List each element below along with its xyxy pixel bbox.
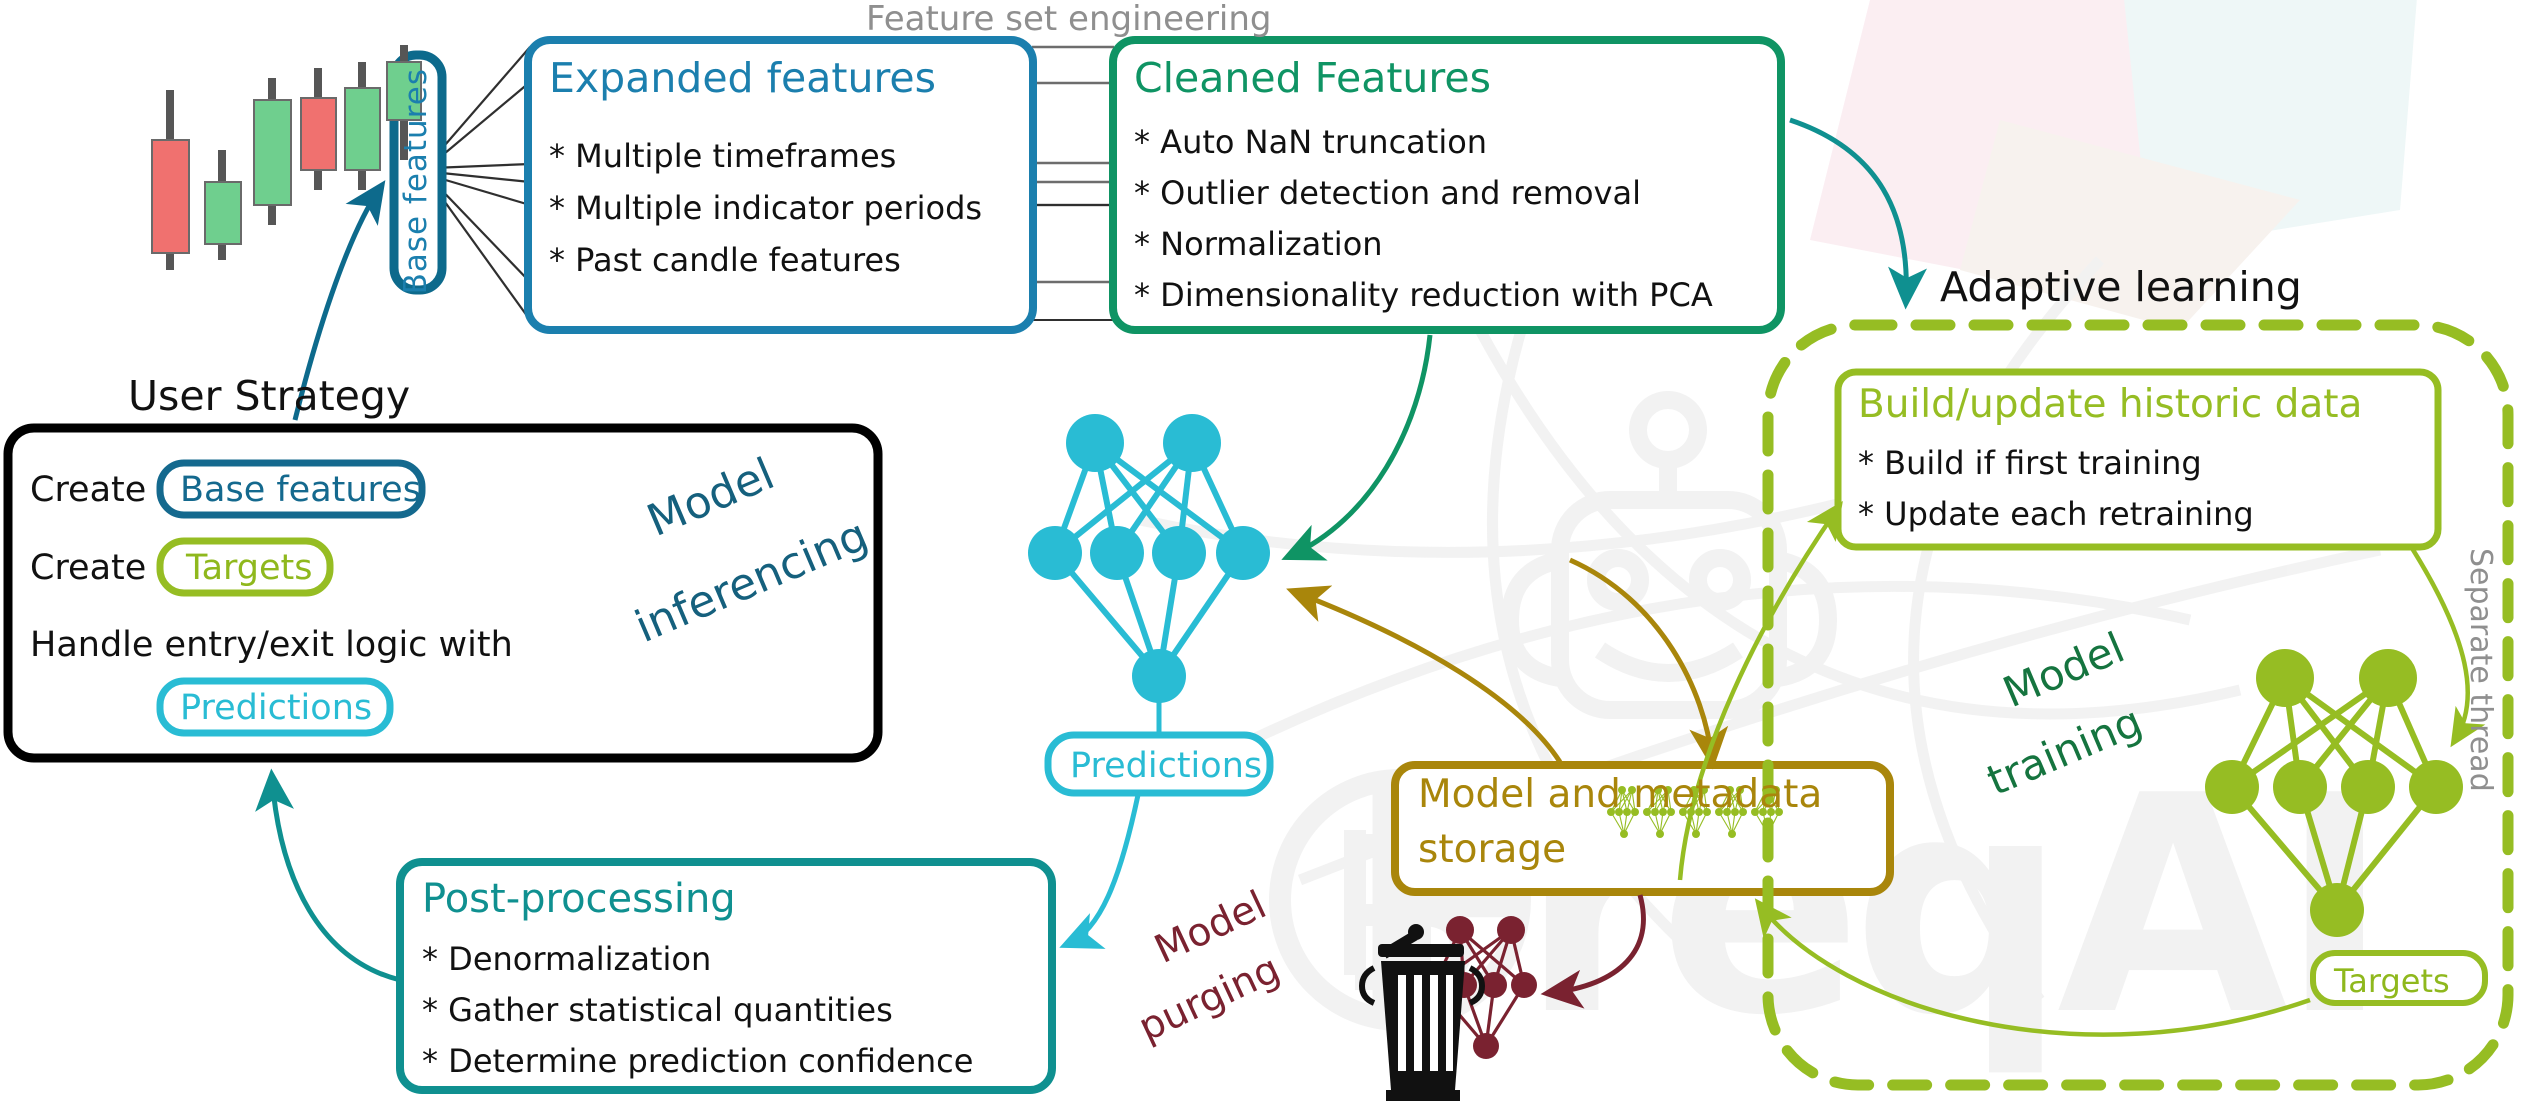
user-strategy-chip0-label: Base features [180,470,421,510]
user-strategy-title: User Strategy [128,372,410,420]
feature-set-engineering-label: Feature set engineering [866,0,1272,39]
base-features-label: Base features [398,68,438,294]
post-processing-title: Post-processing [422,876,736,922]
expanded-features-connectors [1032,205,1114,320]
separate-thread-label: Separate thread [2463,548,2498,792]
cleaned-features-bullet-0: * Auto NaN truncation [1134,123,1487,161]
candlestick-chart [152,45,421,270]
cleaned-features-title: Cleaned Features [1134,54,1491,102]
inference-neural-network [1028,414,1270,703]
model-storage-line1: Model and metadata [1418,772,1822,817]
user-strategy-row0-prefix: Create [30,470,146,510]
cleaned-to-inference-arrow [1290,335,1430,556]
predictions-to-postprocessing-arrow [1068,795,1138,944]
diagram-canvas: FreqAI [0,0,2539,1104]
expanded-features-title: Expanded features [549,54,936,102]
base-to-expanded-fan [432,47,530,320]
feature-box-connectors [1032,47,1114,282]
build-update-title: Build/update historic data [1858,382,2362,427]
cleaned-features-bullet-3: * Dimensionality reduction with PCA [1134,276,1713,314]
builddata-to-training-arrow [2410,545,2468,740]
expanded-features-bullet-2: * Past candle features [549,241,901,279]
user-strategy-row1-prefix: Create [30,548,146,588]
targets-pill-label: Targets [2334,962,2450,1000]
expanded-features-bullet-1: * Multiple indicator periods [549,189,982,227]
expanded-features-bullet-0: * Multiple timeframes [549,137,896,175]
cleaned-features-bullet-2: * Normalization [1134,225,1383,263]
predictions-pill-label: Predictions [1070,746,1262,786]
model-storage-line2: storage [1418,827,1566,872]
postprocessing-to-strategy-arrow [272,778,400,980]
build-update-bullet-0: * Build if first training [1858,444,2202,482]
user-strategy-line3: Handle entry/exit logic with [30,625,513,665]
user-strategy-chip1-label: Targets [186,548,313,588]
post-processing-bullet-1: * Gather statistical quantities [422,991,893,1029]
post-processing-bullet-0: * Denormalization [422,940,711,978]
cleaned-features-bullet-1: * Outlier detection and removal [1134,174,1641,212]
user-strategy-chip2-label: Predictions [180,688,372,728]
post-processing-bullet-2: * Determine prediction confidence [422,1042,973,1080]
freqai-architecture-diagram: FreqAI [0,0,2539,1104]
build-update-bullet-1: * Update each retraining [1858,495,2254,533]
adaptive-learning-label: Adaptive learning [1940,263,2302,311]
